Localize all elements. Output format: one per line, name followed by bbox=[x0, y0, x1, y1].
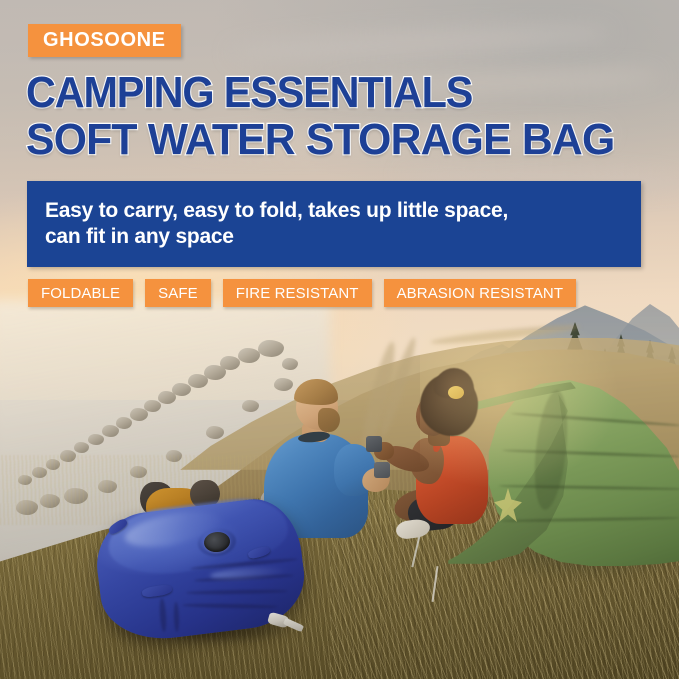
feature-tag-foldable: FOLDABLE bbox=[28, 279, 133, 307]
brand-badge: GHOSOONE bbox=[28, 24, 181, 57]
description-bar: Easy to carry, easy to fold, takes up li… bbox=[27, 181, 641, 267]
headline-line-1: CAMPING ESSENTIALS bbox=[26, 71, 628, 115]
brand-name: GHOSOONE bbox=[43, 29, 166, 52]
description-line-1: Easy to carry, easy to fold, takes up li… bbox=[45, 198, 508, 224]
description-text: Easy to carry, easy to fold, takes up li… bbox=[27, 198, 526, 249]
feature-tag-abrasion-resistant: ABRASION RESISTANT bbox=[384, 279, 577, 307]
feature-tag-row: FOLDABLE SAFE FIRE RESISTANT ABRASION RE… bbox=[28, 279, 576, 307]
headline-line-2: SOFT WATER STORAGE BAG bbox=[26, 118, 647, 162]
marketing-text-overlay: GHOSOONE CAMPING ESSENTIALS SOFT WATER S… bbox=[0, 0, 679, 679]
feature-tag-safe: SAFE bbox=[145, 279, 211, 307]
product-marketing-image: GHOSOONE CAMPING ESSENTIALS SOFT WATER S… bbox=[0, 0, 679, 679]
description-line-2: can fit in any space bbox=[45, 224, 508, 250]
feature-tag-fire-resistant: FIRE RESISTANT bbox=[223, 279, 372, 307]
